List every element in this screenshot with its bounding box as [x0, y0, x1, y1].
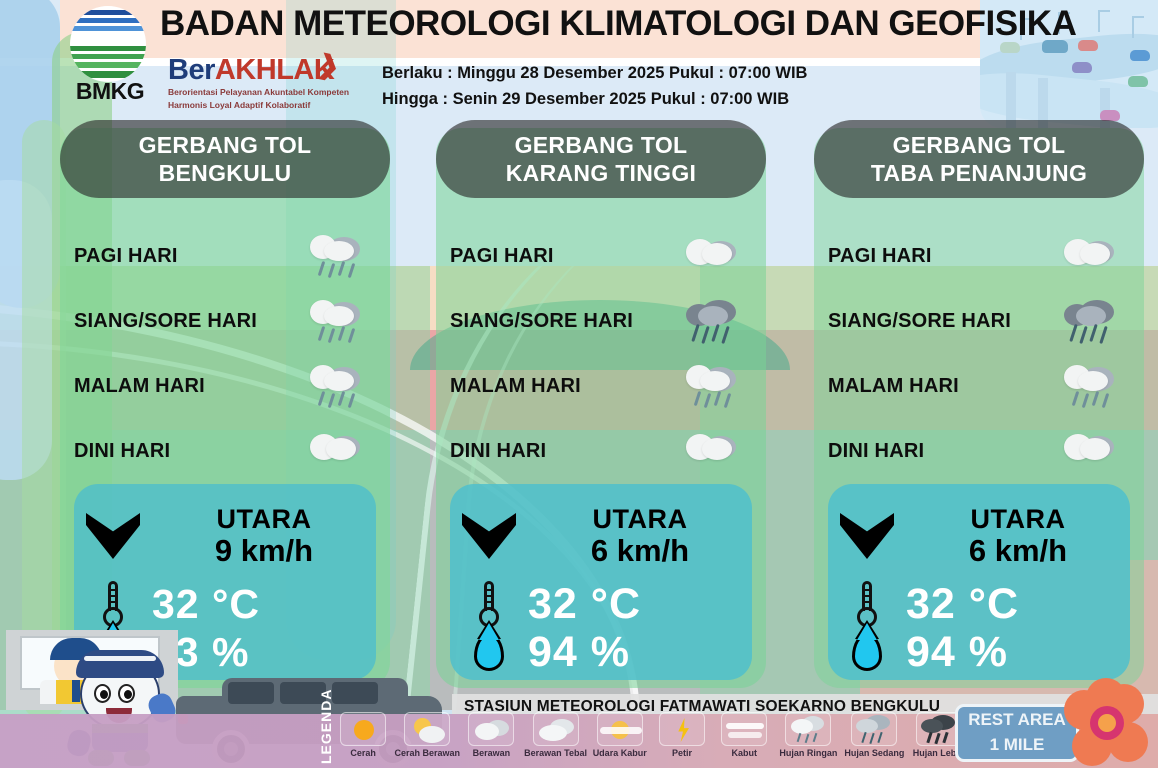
gate-panel-karang-tinggi: GERBANG TOL KARANG TINGGI PAGI HARI SIAN… — [436, 128, 766, 688]
rain-light-icon — [308, 361, 368, 413]
wind-direction-arrow-icon — [828, 513, 906, 559]
berakhlak-tagline-2: Harmonis Loyal Adaptif Kolaboratif — [168, 100, 368, 111]
temperature-value: 32 °C — [906, 581, 1130, 627]
forecast-period-label: MALAM HARI — [450, 375, 581, 398]
gate-title-line-2: KARANG TINGGI — [506, 159, 696, 187]
gate-panel-header: GERBANG TOL BENGKULU — [60, 120, 390, 198]
forecast-period-label: PAGI HARI — [450, 245, 554, 268]
sun-cloud-icon — [404, 712, 450, 746]
forecast-rows: PAGI HARI SIANG/SORE HARI — [60, 224, 390, 484]
bmkg-logo-icon — [70, 6, 146, 82]
forecast-row: SIANG/SORE HARI — [60, 289, 390, 354]
wind-direction-arrow-icon — [450, 513, 528, 559]
forecast-period-label: MALAM HARI — [74, 375, 205, 398]
rain-moderate-icon — [1062, 296, 1122, 348]
forecast-row: MALAM HARI — [60, 354, 390, 419]
gate-title-line-1: GERBANG TOL — [893, 131, 1066, 159]
forecast-row: SIANG/SORE HARI — [436, 289, 766, 354]
validity-block: Berlaku : Minggu 28 Desember 2025 Pukul … — [382, 60, 942, 112]
forecast-period-label: DINI HARI — [450, 440, 546, 463]
forecast-row: DINI HARI — [60, 419, 390, 484]
wind-direction-arrow-icon — [74, 513, 152, 559]
bmkg-logo: BMKG — [64, 6, 156, 112]
forecast-period-label: SIANG/SORE HARI — [450, 310, 633, 333]
rest-area-line-1: REST AREA — [958, 707, 1076, 732]
wind-speed-value: 6 km/h — [528, 534, 752, 568]
berakhlak-prefix: Ber — [168, 54, 215, 86]
wind-direction-label: UTARA — [906, 504, 1130, 534]
legend-item: Petir — [655, 708, 709, 768]
rain-light-icon — [1062, 361, 1122, 413]
bmkg-logo-text: BMKG — [64, 78, 156, 105]
sun-icon — [340, 712, 386, 746]
legend-item: Hujan Ringan — [779, 708, 837, 768]
rain-light-icon — [308, 296, 368, 348]
water-droplet-icon — [828, 633, 906, 671]
forecast-row: MALAM HARI — [814, 354, 1144, 419]
gate-panel-taba-penanjung: GERBANG TOL TABA PENANJUNG PAGI HARI SIA… — [814, 128, 1144, 688]
humidity-value: 94 % — [528, 629, 752, 675]
forecast-row: MALAM HARI — [436, 354, 766, 419]
conditions-card: UTARA 6 km/h 32 °C 94 % — [828, 484, 1130, 680]
humidity-row: 94 % — [450, 626, 752, 678]
forecast-row: DINI HARI — [814, 419, 1144, 484]
cloudy-icon — [1062, 426, 1122, 478]
legend-label: Petir — [672, 748, 692, 758]
legend-item: Hujan Sedang — [845, 708, 903, 768]
rest-area-line-2: 1 MILE — [958, 732, 1076, 757]
berakhlak-tagline-1: Berorientasi Pelayanan Akuntabel Kompete… — [168, 87, 368, 98]
legend-item: Cerah — [336, 708, 390, 768]
cloudy-icon — [1062, 231, 1122, 283]
legend-item: Udara Kabur — [593, 708, 647, 768]
infographic-canvas: BMKG BADAN METEOROLOGI KLIMATOLOGI DAN G… — [0, 0, 1158, 768]
forecast-period-label: DINI HARI — [74, 440, 170, 463]
legend-label: Hujan Ringan — [779, 748, 837, 758]
legend-label: Cerah — [350, 748, 376, 758]
cloudy-icon — [308, 426, 368, 478]
legend-item: Berawan — [464, 708, 518, 768]
wind-row: UTARA 9 km/h — [74, 496, 376, 576]
haze-icon — [597, 712, 643, 746]
legend-label: Udara Kabur — [593, 748, 647, 758]
wind-row: UTARA 6 km/h — [450, 496, 752, 576]
rain-moderate-icon — [684, 296, 744, 348]
legend-items: Cerah Cerah Berawan Berawan Berawan Teba… — [336, 708, 1036, 768]
rain-light-icon — [785, 712, 831, 746]
wind-row: UTARA 6 km/h — [828, 496, 1130, 576]
fog-icon — [721, 712, 767, 746]
page-title: BADAN METEOROLOGI KLIMATOLOGI DAN GEOFIS… — [160, 4, 1080, 44]
temperature-value: 32 °C — [528, 581, 752, 627]
gate-title-line-1: GERBANG TOL — [515, 131, 688, 159]
cloudy-icon — [684, 426, 744, 478]
water-droplet-icon — [450, 633, 528, 671]
forecast-period-label: SIANG/SORE HARI — [74, 310, 257, 333]
forecast-row: PAGI HARI — [436, 224, 766, 289]
legend-item: Berawan Tebal — [527, 708, 585, 768]
hibiscus-flower — [1064, 684, 1150, 766]
legend-item: Kabut — [717, 708, 771, 768]
cloudy-icon — [684, 231, 744, 283]
forecast-period-label: PAGI HARI — [74, 245, 178, 268]
humidity-row: 94 % — [828, 626, 1130, 678]
rain-light-icon — [684, 361, 744, 413]
berakhlak-wordmark: BerAKHLAK❯ — [168, 56, 368, 85]
forecast-row: PAGI HARI — [814, 224, 1144, 289]
gate-title-line-1: GERBANG TOL — [139, 131, 312, 159]
forecast-row: SIANG/SORE HARI — [814, 289, 1144, 354]
legend-label: Kabut — [732, 748, 758, 758]
rain-light-icon — [308, 231, 368, 283]
gate-title-line-2: BENGKULU — [159, 159, 292, 187]
forecast-row: DINI HARI — [436, 419, 766, 484]
legend-item: Cerah Berawan — [398, 708, 456, 768]
forecast-rows: PAGI HARI SIANG/SORE HARI — [436, 224, 766, 484]
wind-speed-value: 6 km/h — [906, 534, 1130, 568]
forecast-period-label: DINI HARI — [828, 440, 924, 463]
gate-title-line-2: TABA PENANJUNG — [871, 159, 1087, 187]
wind-direction-label: UTARA — [152, 504, 376, 534]
forecast-rows: PAGI HARI SIANG/SORE HARI — [814, 224, 1144, 484]
legend-label: Hujan Sedang — [844, 748, 904, 758]
validity-from: Berlaku : Minggu 28 Desember 2025 Pukul … — [382, 60, 942, 86]
legend-label: Berawan — [473, 748, 511, 758]
humidity-value: 93 % — [152, 629, 376, 675]
rain-moderate-icon — [851, 712, 897, 746]
cloud-icon — [468, 712, 514, 746]
legend-label: Cerah Berawan — [395, 748, 461, 758]
lightning-icon — [659, 712, 705, 746]
berakhlak-arrow-icon: ❯ — [316, 50, 342, 80]
humidity-value: 94 % — [906, 629, 1130, 675]
forecast-period-label: MALAM HARI — [828, 375, 959, 398]
temperature-value: 32 °C — [152, 581, 376, 627]
legend-title: LEGENDA — [318, 700, 336, 764]
wind-speed-value: 9 km/h — [152, 534, 376, 568]
forecast-period-label: SIANG/SORE HARI — [828, 310, 1011, 333]
gate-panel-header: GERBANG TOL KARANG TINGGI — [436, 120, 766, 198]
gate-panel-header: GERBANG TOL TABA PENANJUNG — [814, 120, 1144, 198]
gate-panel-bengkulu: GERBANG TOL BENGKULU PAGI HARI SIANG/SOR… — [60, 128, 390, 688]
conditions-card: UTARA 6 km/h 32 °C 94 % — [450, 484, 752, 680]
legend-label: Berawan Tebal — [524, 748, 587, 758]
validity-to: Hingga : Senin 29 Desember 2025 Pukul : … — [382, 86, 942, 112]
berakhlak-brand: BerAKHLAK❯ Berorientasi Pelayanan Akunta… — [168, 56, 368, 114]
cloud-thick-icon — [533, 712, 579, 746]
forecast-row: PAGI HARI — [60, 224, 390, 289]
wind-direction-label: UTARA — [528, 504, 752, 534]
rest-area-sign: REST AREA 1 MILE — [955, 704, 1079, 762]
forecast-period-label: PAGI HARI — [828, 245, 932, 268]
